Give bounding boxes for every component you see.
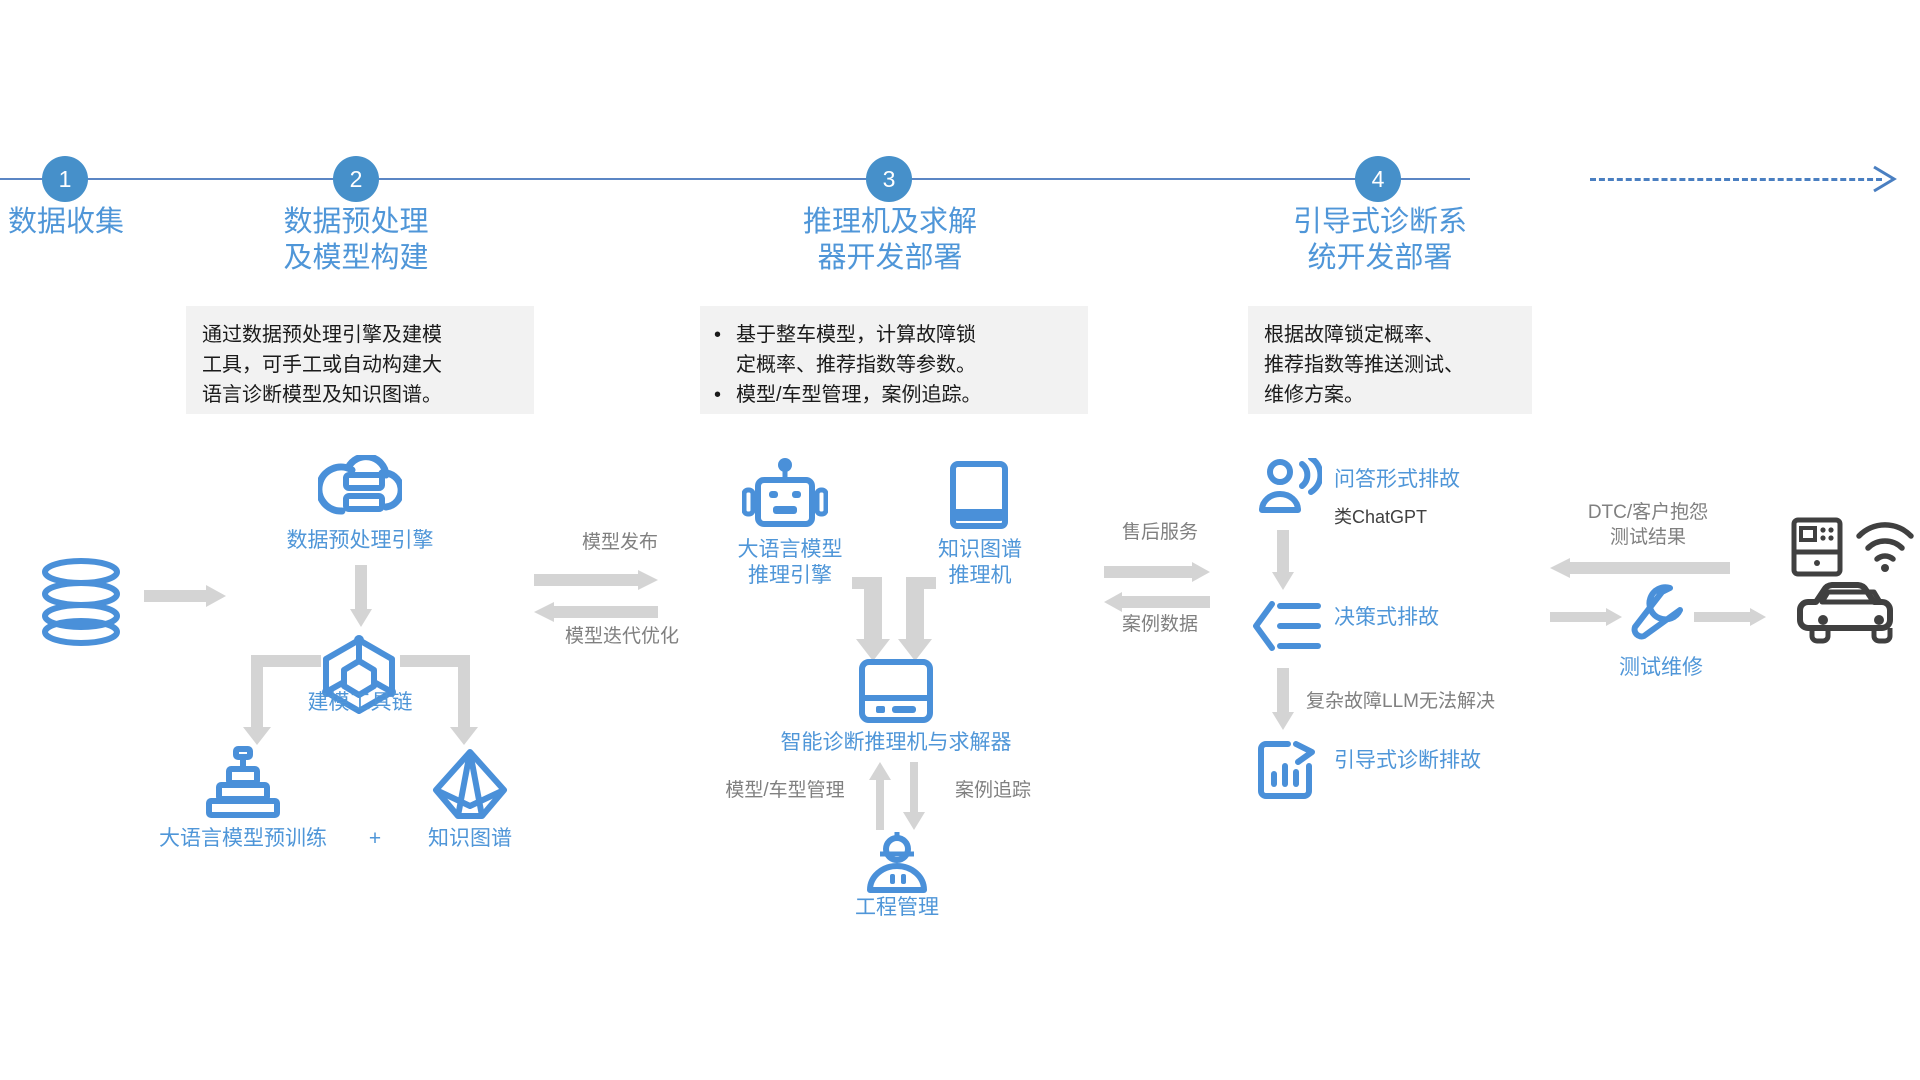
stage-title-3: 推理机及求解 器开发部署 <box>740 204 1040 276</box>
desc2-line-3: 语言诊断模型及知识图谱。 <box>202 380 518 410</box>
bridge34-top-label: 售后服务 <box>1090 520 1230 545</box>
bridge23-left-arrow-icon <box>534 602 658 622</box>
stage3-label-solver: 智能诊断推理机与求解器 <box>726 730 1066 756</box>
stage3-label-engineering: 工程管理 <box>827 895 967 921</box>
stage4-arrow-1-icon <box>1272 530 1294 590</box>
pretrain-model-icon <box>205 745 281 821</box>
bridge23-bottom-label: 模型迭代优化 <box>512 624 732 649</box>
bullet-glyph: • <box>714 320 736 380</box>
description-box-stage4: 根据故障锁定概率、 推荐指数等推送测试、 维修方案。 <box>1248 306 1532 414</box>
desc3-bullet-2: • 模型/车型管理，案例追踪。 <box>714 380 1072 410</box>
timeline-node-4[interactable]: 4 <box>1355 156 1401 202</box>
stage3-right-arrow-label: 案例追踪 <box>928 778 1058 803</box>
stage4-label-decision: 决策式排故 <box>1334 605 1554 631</box>
branch-right-arrow-icon <box>400 655 478 745</box>
timeline-node-2-number: 2 <box>350 166 363 193</box>
stage3-bidir-arrows-icon <box>869 762 925 830</box>
bridge34-bottom-label: 案例数据 <box>1090 612 1230 637</box>
stage-title-4: 引导式诊断系 统开发部署 <box>1230 204 1530 276</box>
timeline-node-1-number: 1 <box>59 166 72 193</box>
guided-chart-icon <box>1258 740 1320 800</box>
bridge23-right-arrow-icon <box>534 570 658 590</box>
stage-title-2: 数据预处理 及模型构建 <box>206 204 506 276</box>
stage4-arrow-2-icon <box>1272 668 1294 730</box>
right-panel-arrow-b-icon <box>1694 608 1766 626</box>
down-arrow-icon <box>350 565 372 627</box>
timeline-node-3-number: 3 <box>883 166 896 193</box>
server-icon <box>858 658 934 724</box>
decision-list-icon <box>1252 600 1324 652</box>
stage2-label-pretrain: 大语言模型预训练 <box>128 826 358 852</box>
timeline-line <box>0 178 1470 180</box>
stage-title-1: 数据收集 <box>8 204 198 240</box>
branch-left-arrow-icon <box>243 655 321 745</box>
wifi-icon <box>1856 520 1914 574</box>
desc4-line-3: 维修方案。 <box>1264 380 1516 410</box>
bridge23-top-label: 模型发布 <box>530 530 710 555</box>
timeline-node-2[interactable]: 2 <box>333 156 379 202</box>
stage4-sublabel-chatgpt: 类ChatGPT <box>1334 503 1554 529</box>
diagnostic-device-icon <box>1790 516 1844 578</box>
stage2-label-cloud: 数据预处理引擎 <box>250 528 470 554</box>
robot-icon <box>742 458 828 530</box>
desc3-bullet-1: • 基于整车模型，计算故障锁 定概率、推荐指数等参数。 <box>714 320 1072 380</box>
right-panel-arrow-a-icon <box>1550 608 1622 626</box>
desc2-line-2: 工具，可手工或自动构建大 <box>202 350 518 380</box>
stage3-left-arrow-label: 模型/车型管理 <box>700 778 870 803</box>
right-panel-wrench-label: 测试维修 <box>1596 655 1726 681</box>
bullet-glyph: • <box>714 380 736 410</box>
stage4-mid-arrow-label: 复杂故障LLM无法解决 <box>1306 689 1586 714</box>
right-panel-left-arrow-icon <box>1550 558 1730 578</box>
car-icon <box>1796 580 1906 646</box>
wrench-icon <box>1630 584 1688 642</box>
person-speaking-icon <box>1258 458 1322 514</box>
cloud-data-icon <box>318 455 402 521</box>
bridge34-right-arrow-icon <box>1104 562 1210 582</box>
engineer-icon <box>864 832 930 894</box>
description-box-stage3: • 基于整车模型，计算故障锁 定概率、推荐指数等参数。 • 模型/车型管理，案例… <box>700 306 1088 414</box>
plus-sign: + <box>360 826 390 852</box>
bridge34-left-arrow-icon <box>1104 592 1210 612</box>
timeline-node-1[interactable]: 1 <box>42 156 88 202</box>
book-icon <box>948 460 1010 530</box>
desc3-b1-line-2: 定概率、推荐指数等参数。 <box>736 350 1072 380</box>
stage4-label-qa: 问答形式排故 <box>1334 467 1554 493</box>
dashed-arrow-icon <box>1872 163 1906 195</box>
description-box-stage2: 通过数据预处理引擎及建模 工具，可手工或自动构建大 语言诊断模型及知识图谱。 <box>186 306 534 414</box>
diagram-canvas: 1 2 3 4 数据收集 数据预处理 及模型构建 推理机及求解 器开发部署 引导… <box>0 0 1920 1080</box>
timeline-dashed-line <box>1590 178 1882 181</box>
desc2-line-1: 通过数据预处理引擎及建模 <box>202 320 518 350</box>
right-panel-top-label: DTC/客户抱怨 测试结果 <box>1548 500 1748 550</box>
desc3-b1-line-1: 基于整车模型，计算故障锁 <box>736 320 1072 350</box>
timeline-node-4-number: 4 <box>1372 166 1385 193</box>
knowledge-graph-icon <box>432 748 508 820</box>
desc4-line-1: 根据故障锁定概率、 <box>1264 320 1516 350</box>
database-icon <box>40 557 122 647</box>
timeline-node-3[interactable]: 3 <box>866 156 912 202</box>
stage4-label-guided: 引导式诊断排故 <box>1334 748 1584 774</box>
desc3-b2-line-1: 模型/车型管理，案例追踪。 <box>736 380 1072 410</box>
desc4-line-2: 推荐指数等推送测试、 <box>1264 350 1516 380</box>
right-arrow-icon <box>144 585 226 607</box>
stage3-up-down-arrows-icon <box>852 577 936 661</box>
stage2-label-kg: 知识图谱 <box>400 826 540 852</box>
